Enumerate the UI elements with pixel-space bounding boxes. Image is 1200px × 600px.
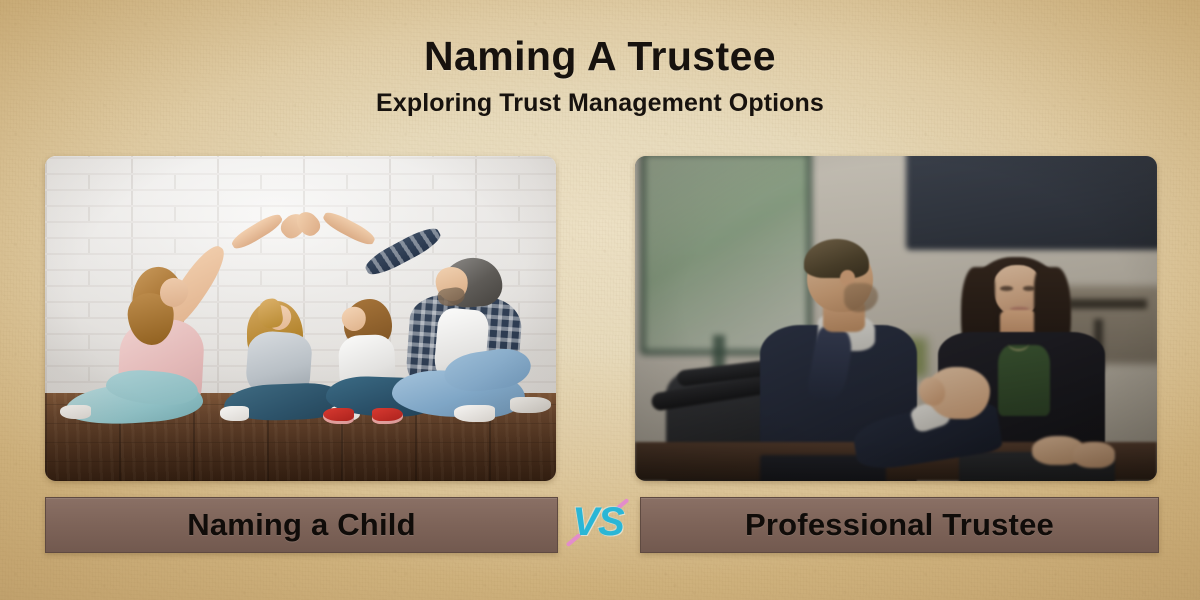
versus-label: VS — [556, 498, 640, 546]
right-image-grading — [635, 156, 1157, 481]
page-title: Naming A Trustee — [0, 36, 1200, 77]
left-caption-bar: Naming a Child — [45, 497, 558, 553]
page-subtitle: Exploring Trust Management Options — [0, 90, 1200, 118]
right-caption-label: Professional Trustee — [745, 507, 1054, 543]
versus-badge: VS — [556, 494, 640, 554]
left-comparison-image — [45, 156, 556, 481]
left-caption-label: Naming a Child — [187, 507, 415, 543]
right-caption-bar: Professional Trustee — [640, 497, 1159, 553]
right-comparison-image — [635, 156, 1157, 481]
left-image-grading — [45, 156, 556, 481]
infographic-canvas: Naming A Trustee Exploring Trust Managem… — [0, 0, 1200, 600]
